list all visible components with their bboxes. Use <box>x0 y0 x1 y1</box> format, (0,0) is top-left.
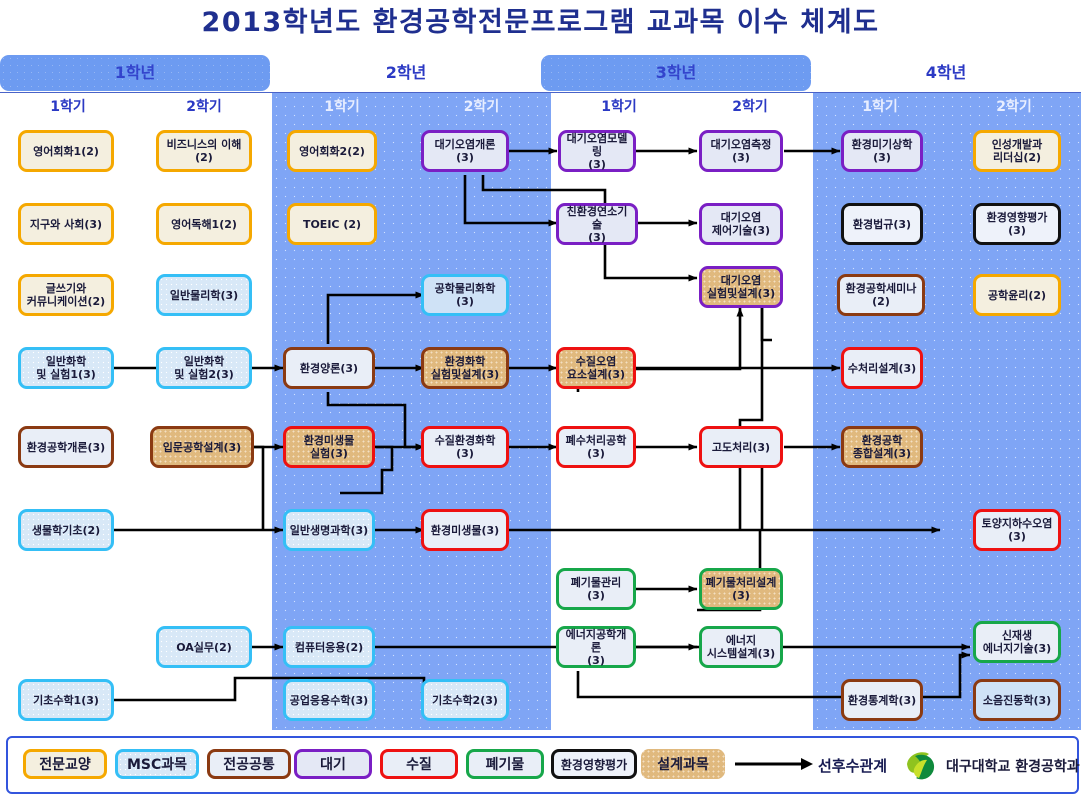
course-label: 환경공학종합설계(3) <box>853 434 911 460</box>
course-label: 수질환경화학(3) <box>427 434 503 460</box>
course-label: 환경양론(3) <box>300 362 358 375</box>
course-box[interactable]: 대기오염제어기술(3) <box>699 203 783 245</box>
course-label: 영어회화2(2) <box>299 145 365 158</box>
course-label: 영어회화1(2) <box>33 145 99 158</box>
course-box[interactable]: 환경화학실험및설계(3) <box>421 347 509 389</box>
course-label: 수처리설계(3) <box>848 362 916 375</box>
course-label: OA실무(2) <box>176 641 232 654</box>
course-box[interactable]: 환경미생물(3) <box>421 509 509 551</box>
course-box[interactable]: 입문공학설계(3) <box>150 426 254 468</box>
course-box[interactable]: 일반생명과학(3) <box>283 509 375 551</box>
course-box[interactable]: 비즈니스의 이해(2) <box>156 130 252 172</box>
course-box[interactable]: TOEIC (2) <box>287 203 377 245</box>
course-box[interactable]: 환경양론(3) <box>283 347 375 389</box>
course-label: 폐기물관리(3) <box>562 576 630 602</box>
course-box[interactable]: 대기오염측정(3) <box>699 130 783 172</box>
course-box[interactable]: 영어회화1(2) <box>18 130 114 172</box>
course-label: 일반화학및 실험2(3) <box>174 355 234 381</box>
course-label: 환경법규(3) <box>853 218 911 231</box>
course-label: TOEIC (2) <box>303 218 361 231</box>
course-box[interactable]: 토양지하수오염(3) <box>973 509 1061 551</box>
course-box[interactable]: 고도처리(3) <box>699 426 783 468</box>
course-label: 비즈니스의 이해(2) <box>167 138 242 164</box>
course-box[interactable]: 환경공학종합설계(3) <box>841 426 923 468</box>
course-label: 환경영향평가(3) <box>979 211 1055 237</box>
course-label: 일반화학및 실험1(3) <box>36 355 96 381</box>
course-box[interactable]: 폐수처리공학(3) <box>556 426 636 468</box>
course-box[interactable]: 소음진동학(3) <box>973 679 1061 721</box>
course-label: 대기오염모델링(3) <box>564 132 630 171</box>
course-box[interactable]: 영어회화2(2) <box>287 130 377 172</box>
course-label: 환경공학세미나(2) <box>846 282 917 308</box>
course-box[interactable]: 에너지공학개론(3) <box>556 626 636 668</box>
course-box[interactable]: 대기오염개론(3) <box>421 130 509 172</box>
course-label: 친환경연소기술(3) <box>562 205 632 244</box>
course-label: 환경공학개론(3) <box>27 441 105 454</box>
course-label: 고도처리(3) <box>712 441 770 454</box>
course-box[interactable]: 폐기물관리(3) <box>556 568 636 610</box>
course-label: 지구와 사회(3) <box>30 218 102 231</box>
course-box[interactable]: 신재생에너지기술(3) <box>973 621 1061 663</box>
course-box[interactable]: 일반화학및 실험1(3) <box>18 347 114 389</box>
course-box[interactable]: 지구와 사회(3) <box>18 203 114 245</box>
course-label: 기초수학1(3) <box>33 694 99 707</box>
course-label: 입문공학설계(3) <box>163 441 241 454</box>
course-box[interactable]: 기초수학1(3) <box>18 679 114 721</box>
course-box[interactable]: 환경통계학(3) <box>841 679 923 721</box>
course-label: 대기오염측정(3) <box>705 138 777 164</box>
prerequisite-connectors <box>0 0 1081 794</box>
course-box[interactable]: 글쓰기와커뮤니케이션(2) <box>18 274 114 316</box>
course-label: 환경미생물(3) <box>431 524 499 537</box>
course-box[interactable]: 친환경연소기술(3) <box>556 203 638 245</box>
course-label: 영어독해1(2) <box>171 218 237 231</box>
course-label: 환경미기상학(3) <box>847 138 917 164</box>
course-box[interactable]: 에너지시스템설계(3) <box>699 626 783 668</box>
course-label: 생물학기초(2) <box>32 524 100 537</box>
course-label: 환경화학실험및설계(3) <box>431 355 499 381</box>
course-label: 신재생에너지기술(3) <box>983 629 1051 655</box>
course-box[interactable]: 일반화학및 실험2(3) <box>156 347 252 389</box>
course-label: 대기오염개론(3) <box>427 138 503 164</box>
course-box[interactable]: 공학윤리(2) <box>973 274 1061 316</box>
course-box[interactable]: 영어독해1(2) <box>156 203 252 245</box>
course-label: 수질오염요소설계(3) <box>567 355 625 381</box>
course-box[interactable]: 환경공학개론(3) <box>18 426 114 468</box>
course-label: 에너지시스템설계(3) <box>707 634 775 660</box>
course-label: 일반물리학(3) <box>170 289 238 302</box>
course-label: 인성개발과리더십(2) <box>992 138 1043 164</box>
course-box[interactable]: 대기오염모델링(3) <box>558 130 636 172</box>
course-label: 공업응용수학(3) <box>290 694 368 707</box>
course-label: 공학윤리(2) <box>988 289 1046 302</box>
course-box[interactable]: 수처리설계(3) <box>841 347 923 389</box>
course-box[interactable]: 수질환경화학(3) <box>421 426 509 468</box>
course-box[interactable]: 인성개발과리더십(2) <box>973 130 1061 172</box>
course-box[interactable]: 수질오염요소설계(3) <box>556 347 636 389</box>
course-label: 대기오염제어기술(3) <box>712 211 770 237</box>
course-label: 소음진동학(3) <box>983 694 1051 707</box>
course-box[interactable]: 공업응용수학(3) <box>283 679 375 721</box>
course-label: 글쓰기와커뮤니케이션(2) <box>27 282 105 308</box>
course-box[interactable]: 폐기물처리설계(3) <box>699 568 783 610</box>
course-box[interactable]: OA실무(2) <box>156 626 252 668</box>
course-box[interactable]: 환경공학세미나(2) <box>837 274 925 316</box>
course-box[interactable]: 생물학기초(2) <box>18 509 114 551</box>
course-label: 폐기물처리설계(3) <box>706 576 777 602</box>
course-label: 토양지하수오염(3) <box>982 517 1053 543</box>
course-box[interactable]: 일반물리학(3) <box>156 274 252 316</box>
course-label: 기초수학2(3) <box>432 694 498 707</box>
course-box[interactable]: 환경미기상학(3) <box>841 130 923 172</box>
course-box[interactable]: 대기오염실험및설계(3) <box>699 266 783 308</box>
course-label: 에너지공학개론(3) <box>562 628 630 667</box>
course-label: 폐수처리공학(3) <box>562 434 630 460</box>
course-label: 공학물리화학(3) <box>427 282 503 308</box>
course-label: 컴퓨터응용(2) <box>295 641 363 654</box>
course-box[interactable]: 환경영향평가(3) <box>973 203 1061 245</box>
course-box[interactable]: 환경법규(3) <box>841 203 923 245</box>
course-box[interactable]: 환경미생물실험(3) <box>283 426 375 468</box>
course-box[interactable]: 컴퓨터응용(2) <box>283 626 375 668</box>
course-label: 일반생명과학(3) <box>290 524 368 537</box>
course-box[interactable]: 기초수학2(3) <box>421 679 509 721</box>
course-label: 환경미생물실험(3) <box>304 434 355 460</box>
course-label: 대기오염실험및설계(3) <box>707 274 775 300</box>
course-box[interactable]: 공학물리화학(3) <box>421 274 509 316</box>
course-label: 환경통계학(3) <box>848 694 916 707</box>
